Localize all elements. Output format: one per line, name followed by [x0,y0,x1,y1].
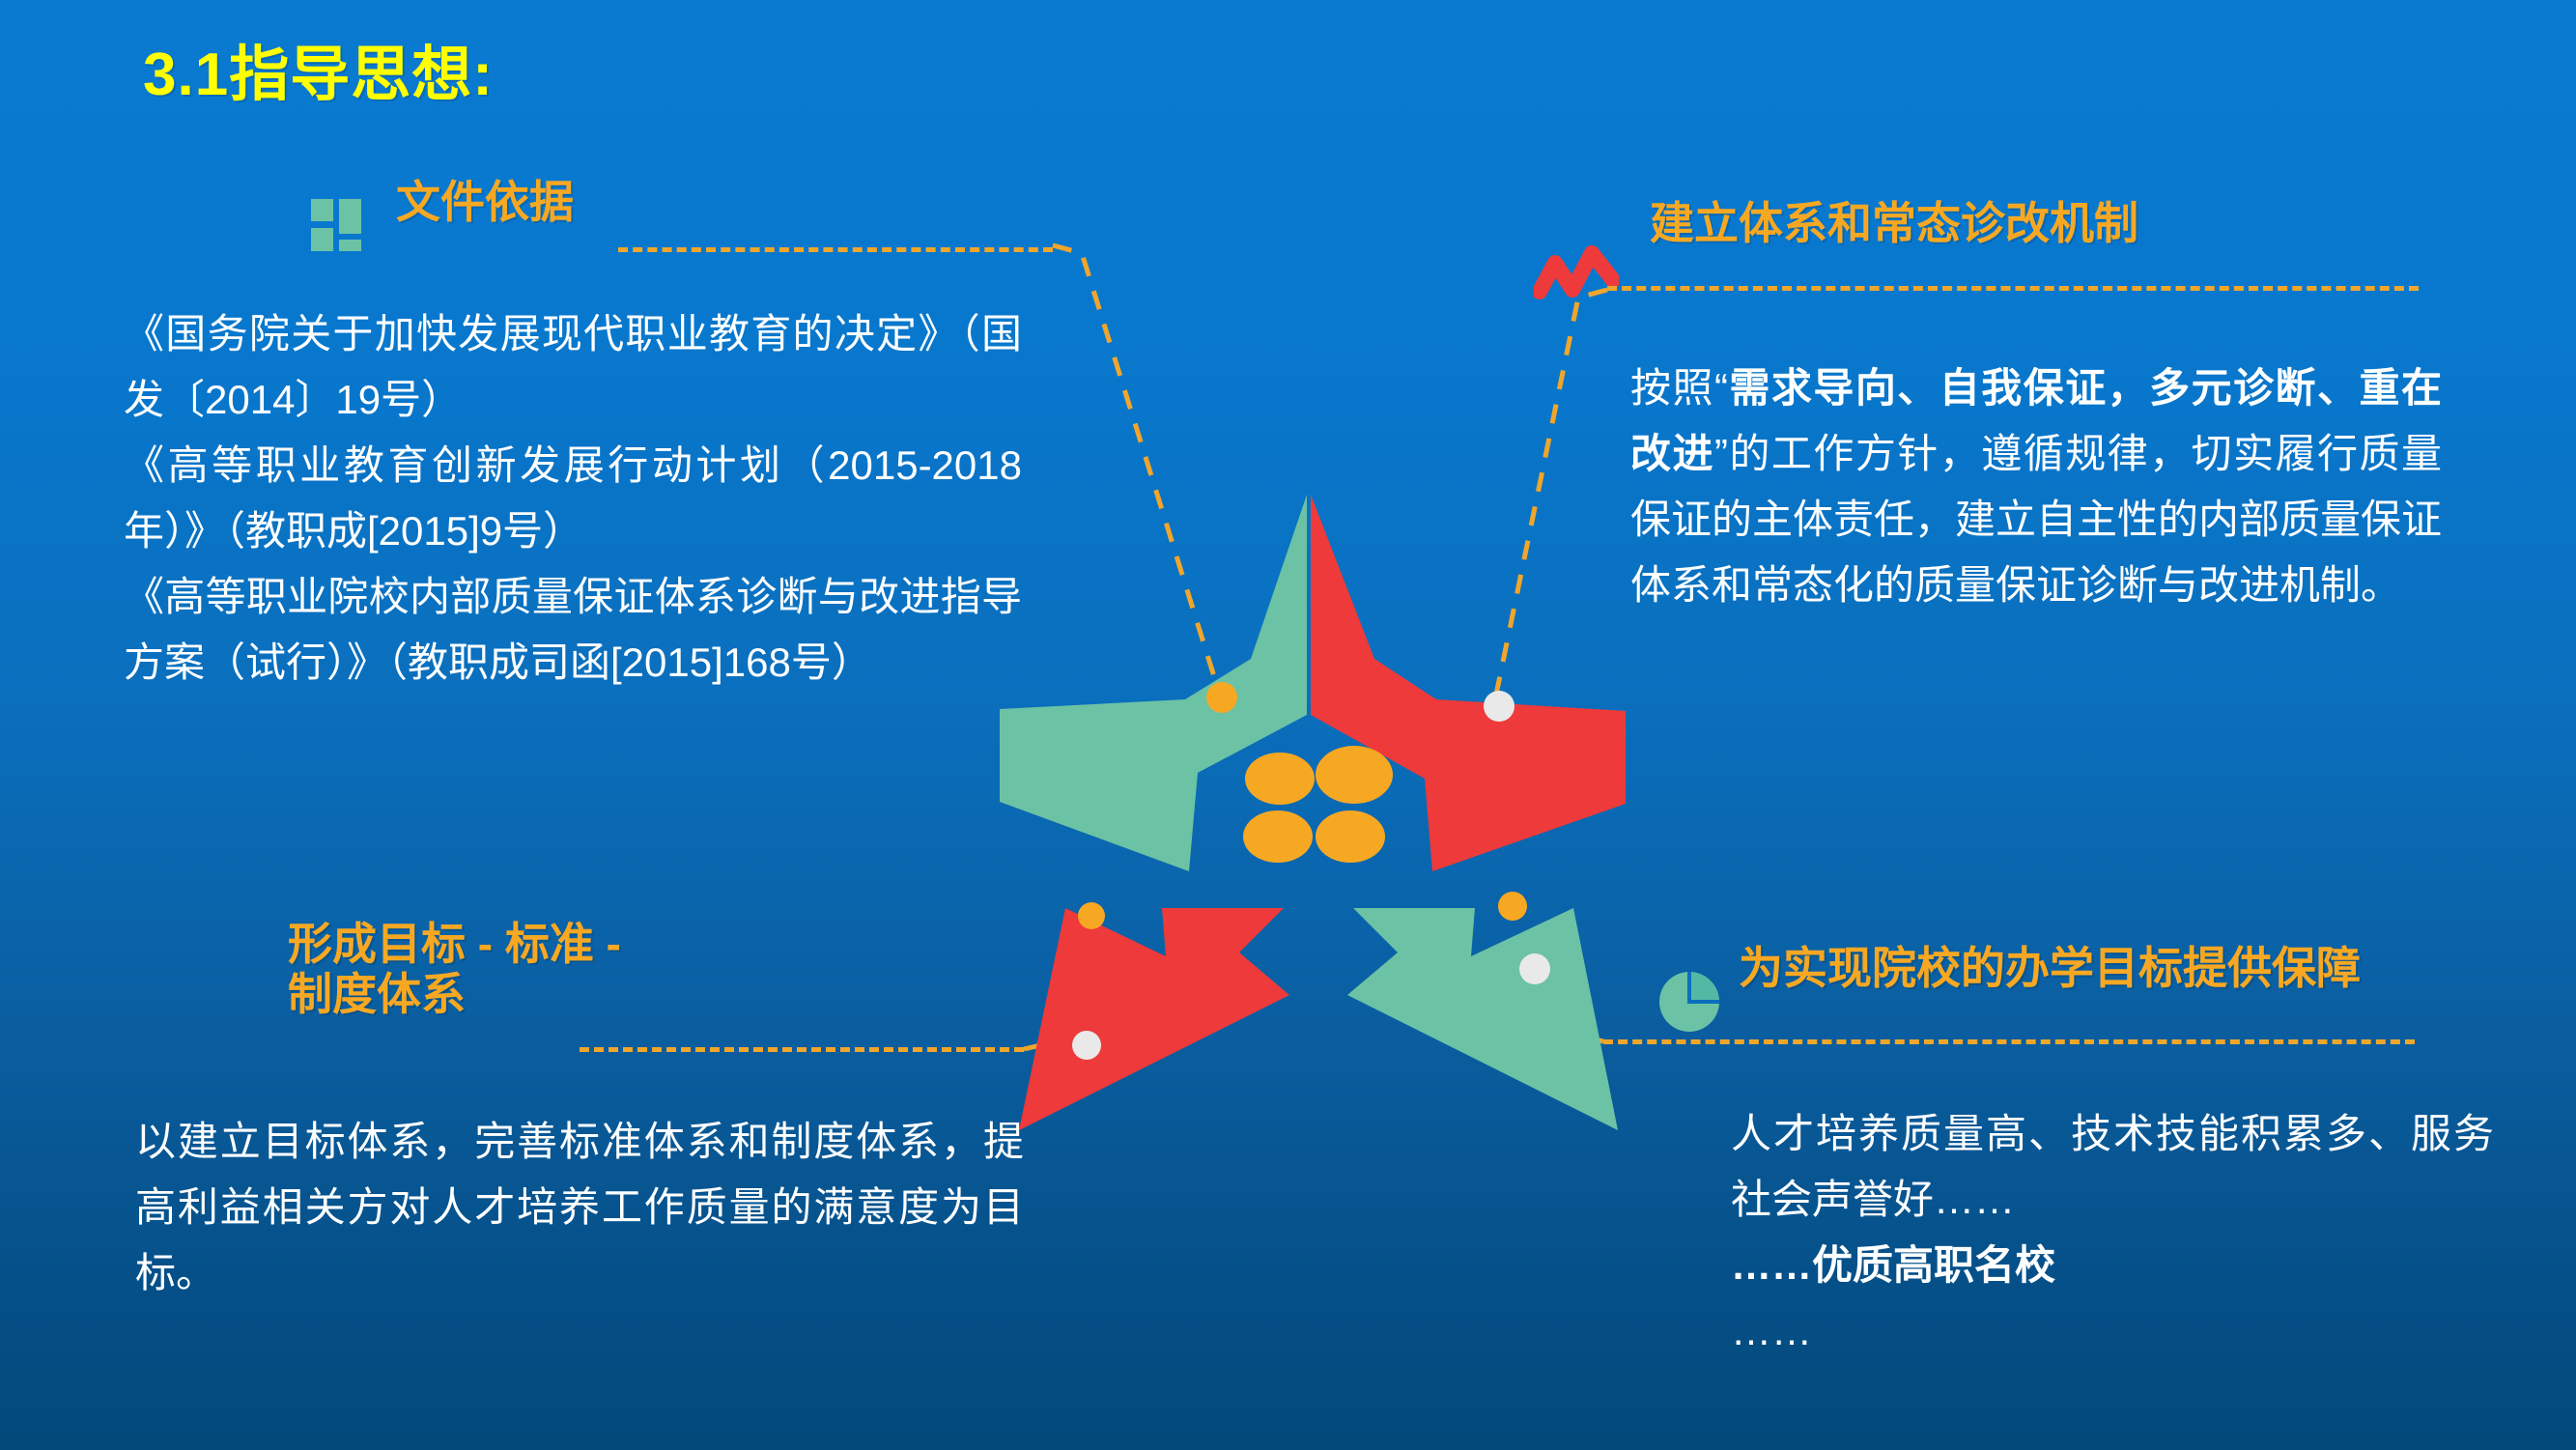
five-point-arrow-star [1000,454,1637,1130]
divider-bottom-right [1603,1039,2415,1044]
center-dot [1316,810,1385,863]
node-dot-orange [1498,892,1527,921]
divider-top-left [618,247,1053,252]
zigzag-trend-icon [1534,242,1619,309]
body-file-basis: 《国务院关于加快发展现代职业教育的决定》（国发〔2014〕19号） 《高等职业教… [124,301,1022,696]
list-item: 《高等职业教育创新发展行动计划（2015-2018年）》（教职成[2015]9号… [124,433,1022,564]
star-point-teal-lower-right [1347,908,1618,1130]
node-dot-white [1072,1031,1101,1060]
text-before: 按照“ [1630,365,1728,411]
node-dot-white [1519,953,1550,984]
page-title: 3.1指导思想: [143,25,494,112]
slide-canvas: 3.1指导思想: [0,0,2576,1450]
divider-top-right [1607,286,2419,291]
center-dot [1243,810,1313,863]
grid-squares-icon [311,199,363,251]
list-item: 《国务院关于加快发展现代职业教育的决定》（国发〔2014〕19号） [124,301,1022,433]
list-item: …… [1731,1298,2494,1364]
center-dot [1245,753,1315,805]
body-guarantee-goals: 人才培养质量高、技术技能积累多、服务社会声誉好…… ……优质高职名校 …… [1731,1101,2494,1364]
list-item: ……优质高职名校 [1731,1233,2494,1298]
heading-goal-standard-system: 形成目标 - 标准 - 制度体系 [288,920,621,1020]
heading-build-system: 建立体系和常态诊改机制 [1650,199,2138,249]
center-dot [1316,746,1393,804]
paragraph: 按照“需求导向、自我保证，多元诊断、重在改进”的工作方针，遵循规律，切实履行质量… [1630,355,2442,618]
star-point-red-lower-left [1019,908,1289,1130]
heading-file-basis: 文件依据 [396,178,574,228]
node-dot-white [1484,691,1514,722]
heading-guarantee-goals: 为实现院校的办学目标提供保障 [1739,944,2473,994]
body-goal-standard-system: 以建立目标体系，完善标准体系和制度体系，提高利益相关方对人才培养工作质量的满意度… [135,1109,1024,1306]
divider-bottom-left [580,1047,1024,1052]
body-build-system: 按照“需求导向、自我保证，多元诊断、重在改进”的工作方针，遵循规律，切实履行质量… [1630,355,2442,618]
list-item: 《高等职业院校内部质量保证体系诊断与改进指导方案（试行）》（教职成司函[2015… [124,564,1022,696]
node-dot-orange [1078,902,1105,929]
list-item: 人才培养质量高、技术技能积累多、服务社会声誉好…… [1731,1101,2494,1233]
text-after: ”的工作方针，遵循规律，切实履行质量保证的主体责任，建立自主性的内部质量保证体系… [1630,431,2442,608]
text-emphasis: ……优质高职名校 [1731,1242,2055,1288]
node-dot-orange [1206,682,1237,713]
pie-chart-icon [1657,970,1721,1034]
paragraph: 以建立目标体系，完善标准体系和制度体系，提高利益相关方对人才培养工作质量的满意度… [135,1109,1024,1306]
